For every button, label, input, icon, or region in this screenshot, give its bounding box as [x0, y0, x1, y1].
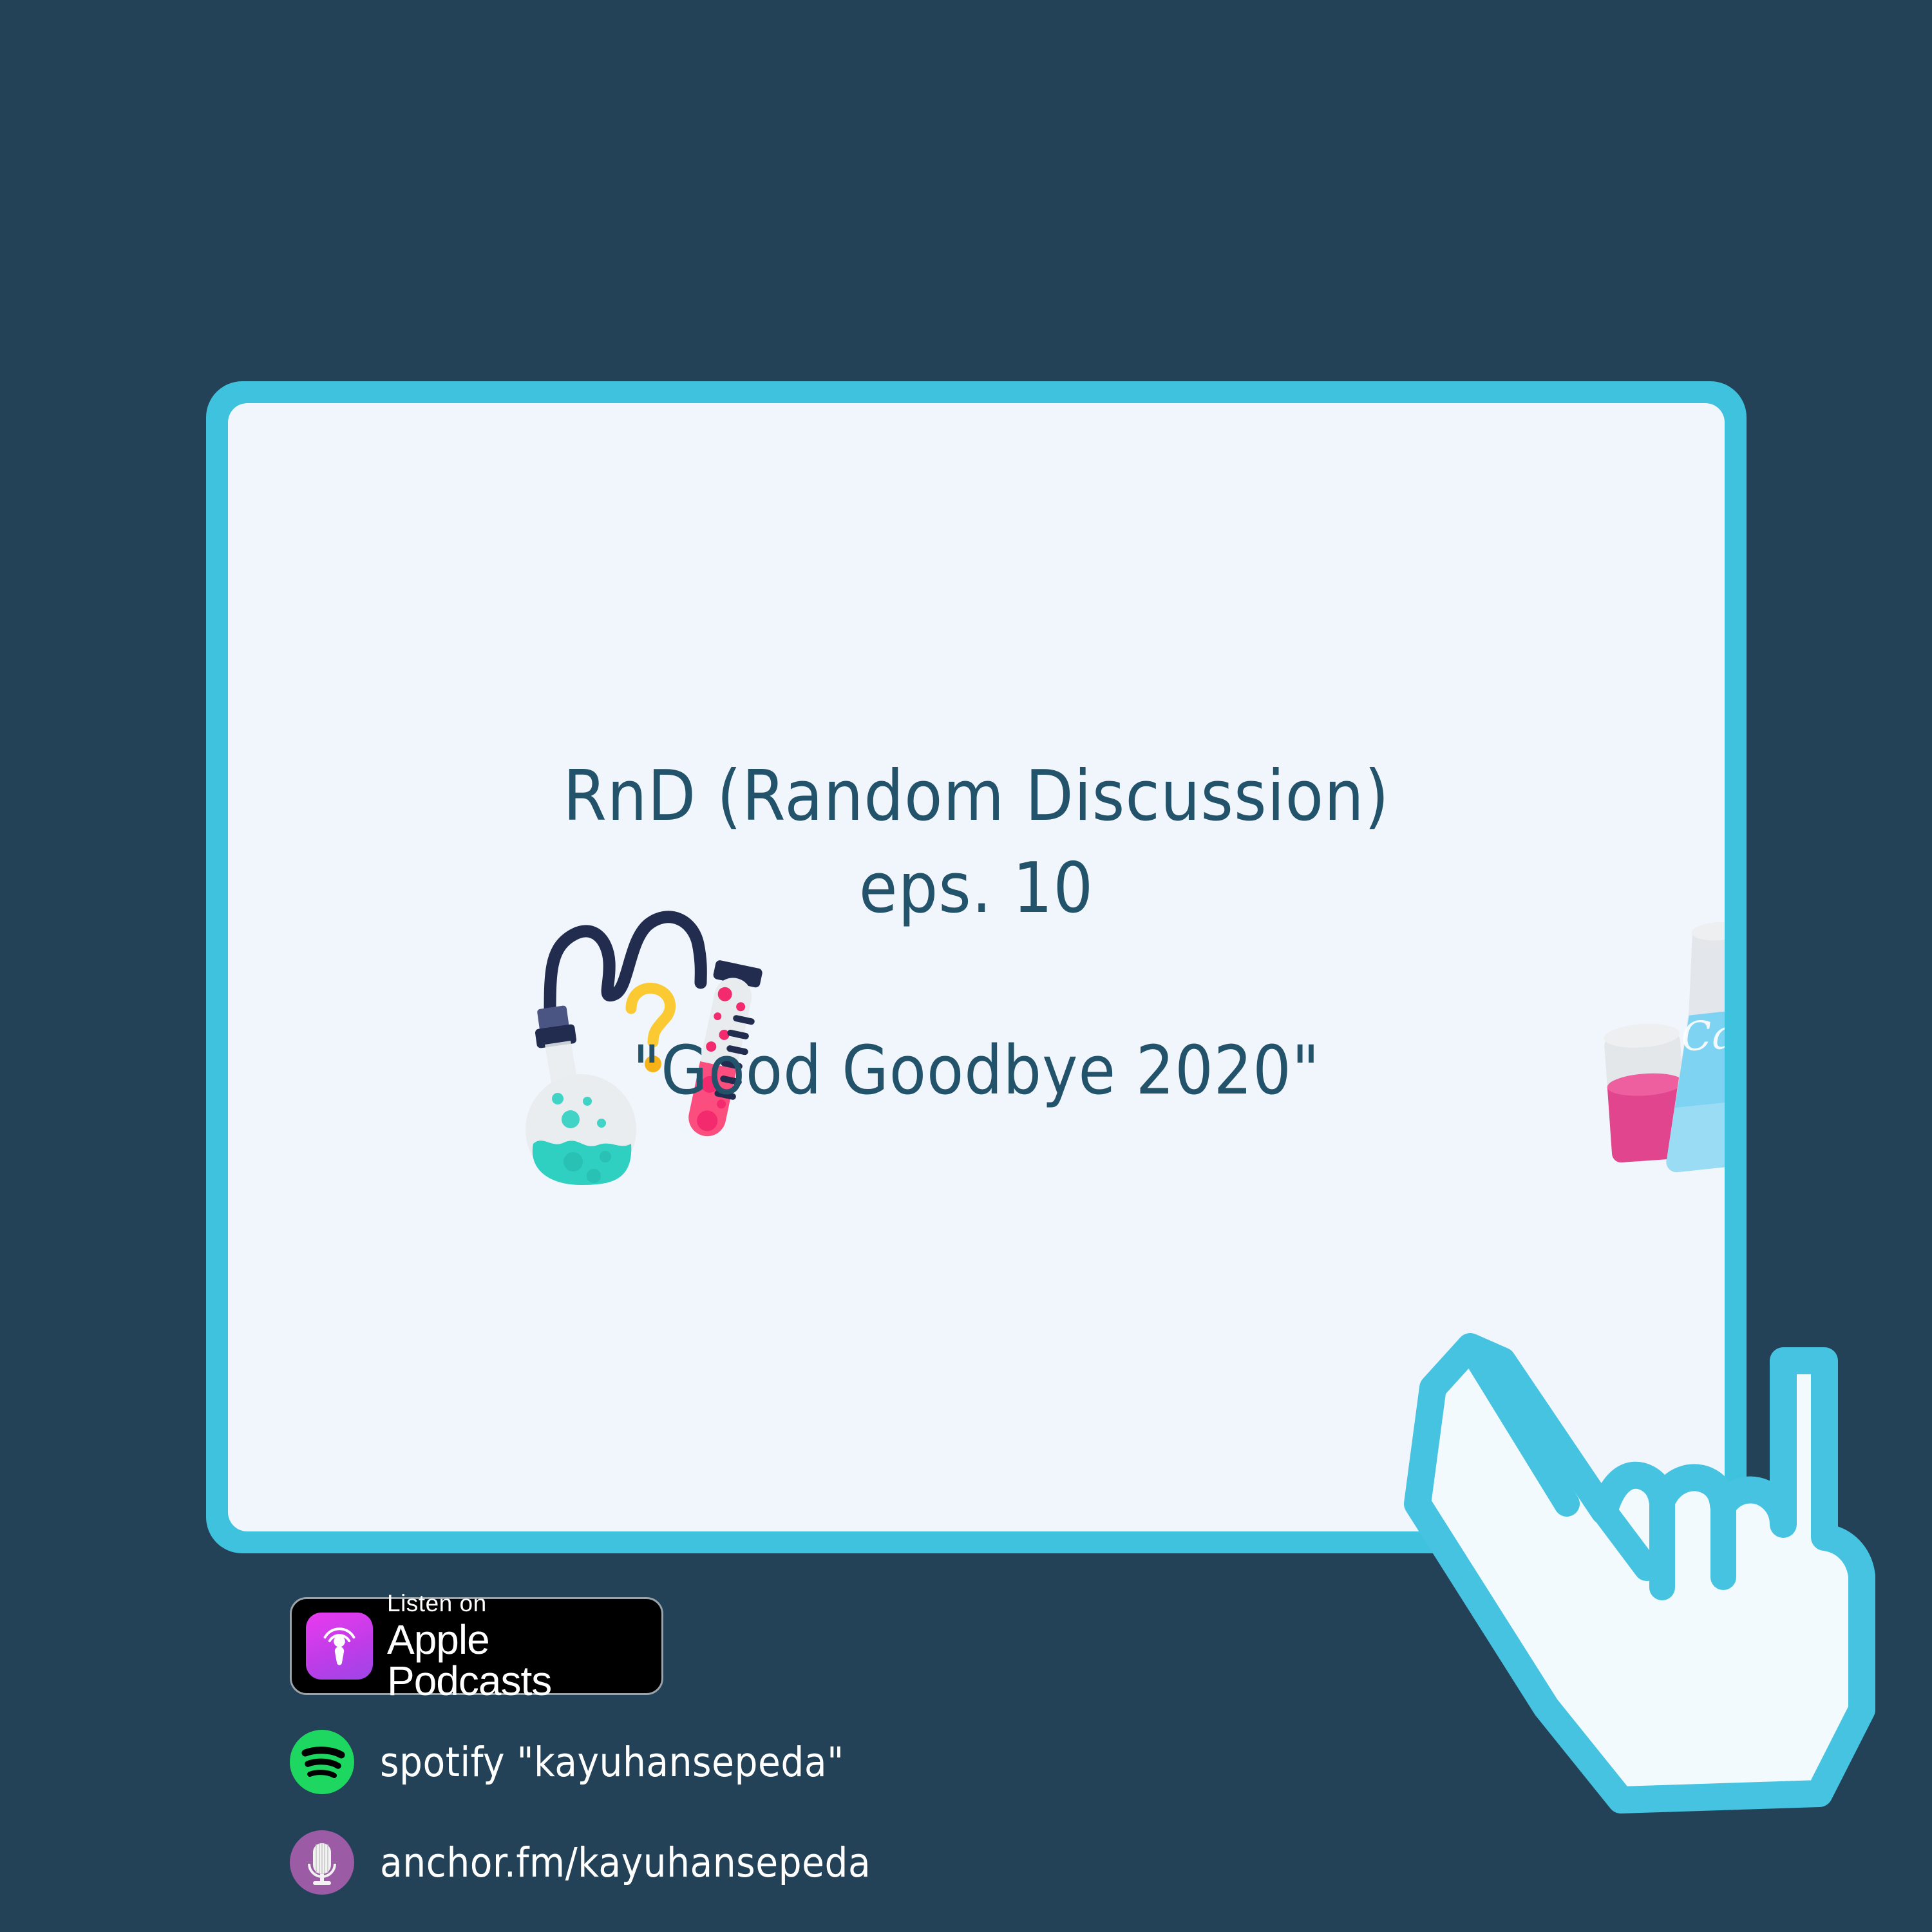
spotify-icon: [290, 1730, 354, 1794]
anchor-microphone-icon: [290, 1830, 354, 1895]
episode-subtitle: "Good Goodbye 2020": [228, 1031, 1725, 1110]
apple-podcasts-icon: [306, 1613, 373, 1680]
apple-podcasts-label: Apple Podcasts: [387, 1619, 661, 1701]
svg-text:Canva: Canva: [1680, 1007, 1725, 1060]
lab-glassware-trio-illustration: Canva: [1587, 912, 1725, 1208]
anchor-link-row[interactable]: anchor.fm/kayuhansepeda: [290, 1829, 1191, 1896]
spotify-link-row[interactable]: spotify "kayuhansepeda": [290, 1728, 1191, 1795]
flask-and-test-tube-with-question-mark-illustration: [511, 880, 782, 1202]
title-line-2: eps. 10: [228, 843, 1725, 935]
title-line-1: RnD (Random Discussion): [228, 751, 1725, 843]
listen-on-label: Listen on: [387, 1591, 661, 1615]
apple-podcasts-badge[interactable]: Listen on Apple Podcasts: [290, 1597, 663, 1695]
footer-links: Listen on Apple Podcasts spotify "kayuha…: [290, 1597, 1191, 1896]
anchor-link-label: anchor.fm/kayuhansepeda: [380, 1839, 871, 1886]
episode-title-block: RnD (Random Discussion) eps. 10 "Good Go…: [228, 751, 1725, 1110]
pointing-hand-cursor-icon: [1394, 1285, 1916, 1845]
spotify-link-label: spotify "kayuhansepeda": [380, 1739, 844, 1786]
